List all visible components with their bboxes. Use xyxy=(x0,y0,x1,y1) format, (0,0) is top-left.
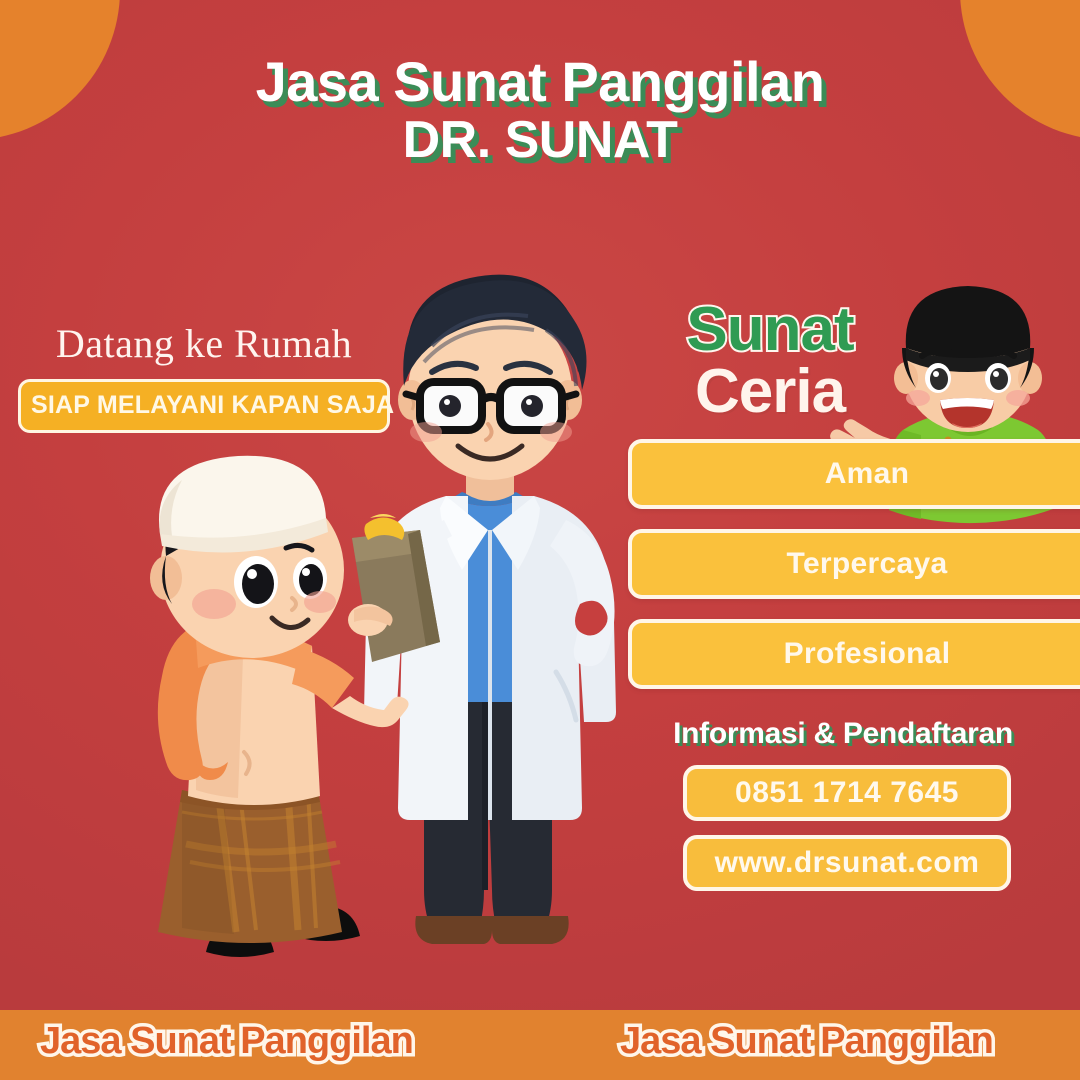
promo-poster: Jasa Sunat Panggilan DR. SUNAT Datang ke… xyxy=(0,0,1080,1080)
headline-line-1: Jasa Sunat Panggilan xyxy=(0,52,1080,112)
contact-heading: Informasi & Pendaftaran xyxy=(628,717,1058,751)
phone-pill[interactable]: 0851 1714 7645 xyxy=(683,765,1011,821)
brand-title-line-1: Sunat xyxy=(650,300,890,360)
home-visit-tagline: Datang ke Rumah xyxy=(18,320,390,367)
right-content-column: Sunat Ceria Aman Terpercaya Profesional … xyxy=(628,300,1080,891)
footer-bar: Jasa Sunat Panggilan Jasa Sunat Panggila… xyxy=(0,1010,1080,1080)
feature-pill-label: Terpercaya xyxy=(787,547,948,581)
phone-number: 0851 1714 7645 xyxy=(735,776,959,810)
brand-title: Sunat Ceria xyxy=(650,300,890,423)
feature-pill-aman: Aman xyxy=(628,439,1080,509)
headline-line-2: DR. SUNAT xyxy=(0,112,1080,168)
website-url: www.drsunat.com xyxy=(715,846,980,880)
brand-title-line-2: Ceria xyxy=(650,360,890,423)
poster-headline: Jasa Sunat Panggilan DR. SUNAT xyxy=(0,52,1080,169)
left-text-block: Datang ke Rumah SIAP MELAYANI KAPAN SAJA xyxy=(18,320,390,433)
feature-pill-profesional: Profesional xyxy=(628,619,1080,689)
footer-text-right: Jasa Sunat Panggilan xyxy=(620,1020,993,1063)
footer-text-left: Jasa Sunat Panggilan xyxy=(40,1020,413,1063)
feature-pill-label: Profesional xyxy=(784,637,951,671)
feature-pill-terpercaya: Terpercaya xyxy=(628,529,1080,599)
availability-badge-label: SIAP MELAYANI KAPAN SAJA xyxy=(31,391,394,419)
feature-pill-label: Aman xyxy=(825,457,910,491)
website-pill[interactable]: www.drsunat.com xyxy=(683,835,1011,891)
availability-badge: SIAP MELAYANI KAPAN SAJA xyxy=(18,379,390,433)
